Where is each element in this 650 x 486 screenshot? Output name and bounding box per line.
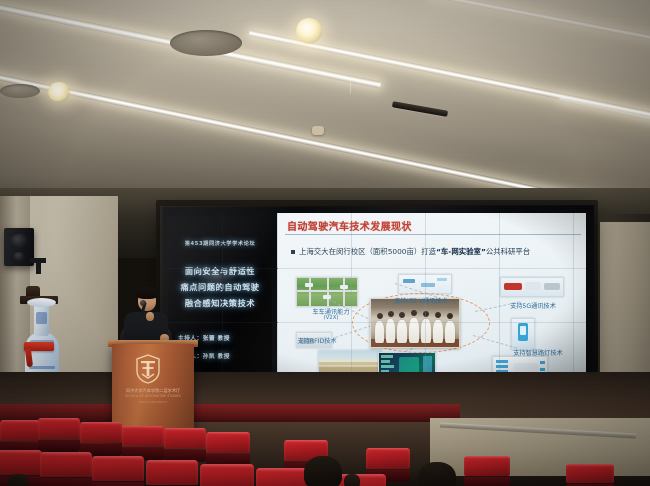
forum-title-line-3: 融合感知决策技术 xyxy=(168,297,272,309)
speaker-mount-bracket xyxy=(36,260,41,274)
diagram-image-bigdata xyxy=(378,352,436,373)
slide-title: 自动驾驶汽车技术发展现状 xyxy=(287,218,517,233)
vase-lip xyxy=(27,298,56,307)
diagram-label-5g: 支持5G通讯技术 xyxy=(493,301,573,310)
speaker-tweeter-icon xyxy=(13,252,25,261)
slide-bullet-text: 上海交大在闵行校区（面积5000亩）打造“车-网实验室”公共科研平台 xyxy=(299,246,589,257)
ceiling-vent-disc xyxy=(170,30,242,56)
auditorium-seat xyxy=(38,418,80,452)
video-wall-bezel xyxy=(425,213,426,373)
auditorium-seat xyxy=(146,460,198,486)
diagram-center-photo xyxy=(370,298,460,348)
video-wall-bezel xyxy=(573,213,574,373)
forum-header-text: 第453期同济大学学术论坛 xyxy=(170,240,270,247)
auditorium-seat xyxy=(164,428,206,462)
speaker-cone-icon xyxy=(10,234,28,248)
ceiling-vent-disc xyxy=(0,84,40,98)
auditorium-seat xyxy=(92,456,144,486)
audience-head xyxy=(418,462,456,486)
podium-org-line-2: SCHOOL OF AUTOMOTIVE STUDIES xyxy=(116,394,190,398)
lecture-hall-photo: 第453期同济大学学术论坛 面向安全与舒适性 痛点问题的自动驾驶 融合感知决策技… xyxy=(0,0,650,486)
audience-head xyxy=(304,456,342,486)
forum-title-line-1: 面向安全与舒适性 xyxy=(168,265,272,277)
diagram-label-streetlamp: 支持智慧路灯技术 xyxy=(496,348,580,357)
auditorium-seat xyxy=(200,464,254,486)
auditorium-seat xyxy=(206,432,250,466)
auditorium-seat xyxy=(80,422,122,456)
bullet-emphasis: “车-网实验室” xyxy=(436,247,486,256)
auditorium-seat xyxy=(464,456,510,486)
presenter-hair xyxy=(136,287,158,299)
ceiling-light-wash xyxy=(0,0,650,210)
auditorium-seat xyxy=(566,464,614,486)
video-wall-bezel xyxy=(168,268,278,269)
video-wall-bezel xyxy=(499,213,500,373)
video-wall-bezel xyxy=(277,213,278,373)
audience-shoulder xyxy=(344,474,360,486)
forum-title-line-2: 痛点问题的自动驾驶 xyxy=(168,281,272,293)
presenter-hand xyxy=(146,312,154,321)
diagram-label-lte-v: 支持LTE-V通讯技术 xyxy=(379,296,463,305)
diagram-image-5g xyxy=(500,277,564,297)
auditorium-seat xyxy=(122,426,164,460)
audience-shoulder xyxy=(8,474,28,486)
bullet-marker-icon xyxy=(291,250,295,254)
video-wall-bezel xyxy=(277,268,586,269)
ceiling-smoke-detector xyxy=(312,126,324,135)
diagram-image-wifi xyxy=(492,356,548,373)
podium-org-line-3: TONGJI UNIVERSITY xyxy=(116,400,190,404)
diagram-image-road xyxy=(296,277,358,307)
bullet-prefix: 上海交大在闵行校区（面积5000亩）打造 xyxy=(299,247,436,256)
diagram-image-navigation xyxy=(318,350,382,373)
diagram-label-rfid: 支持RFID技术 xyxy=(288,336,346,345)
bullet-suffix: 公共科研平台 xyxy=(486,247,530,256)
ceiling-wire xyxy=(350,78,351,94)
video-wall-bezel xyxy=(222,213,223,373)
microphone-head-icon xyxy=(140,300,146,306)
auditorium-seat xyxy=(40,452,92,486)
tongji-shield-logo-icon xyxy=(135,354,161,384)
auditorium-seat xyxy=(256,468,310,486)
vase-neck xyxy=(34,302,49,336)
slide-title-rule xyxy=(285,234,581,235)
ceiling-downlight xyxy=(296,18,322,44)
diagram-label-v2x-sub: (V2X) xyxy=(300,315,362,321)
video-wall-bezel xyxy=(277,322,586,323)
video-wall-bezel xyxy=(168,322,278,323)
video-wall-bezel xyxy=(351,213,352,373)
ceiling-downlight xyxy=(48,82,70,102)
auditorium-seat xyxy=(0,420,40,454)
